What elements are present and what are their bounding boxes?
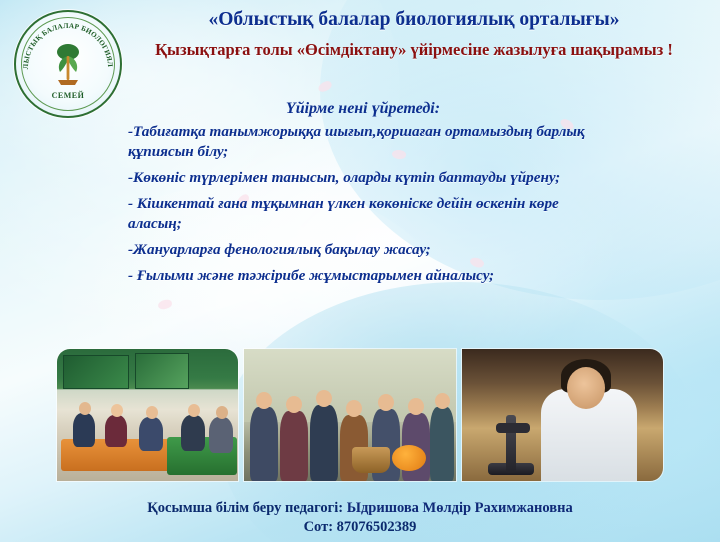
photo-classroom-figure-head [216,406,228,419]
body-lead: Үйірме нені үйретеді: [128,100,598,118]
photo-classroom-figure [73,413,95,447]
footer-phone-line: Сот: 87076502389 [0,519,720,536]
poster-title: «Облыстық балалар биологиялық орталығы» [118,8,710,32]
list-item: - Кішкентай ғана тұқымнан үлкен көкөніск… [128,194,598,234]
photo-student-microscope [461,348,664,482]
footer-role-label: Қосымша білім беру педагогі: [147,500,343,516]
photo-group-child [280,411,308,481]
footer-block: Қосымша білім беру педагогі: Ыдришова Мө… [0,500,720,536]
list-item: - Ғылыми және тәжірибе жұмыстарымен айна… [128,266,598,286]
title-block: «Облыстық балалар биологиялық орталығы» … [118,8,710,62]
list-item: -Көкөніс түрлерімен танысып, оларды күті… [128,168,598,188]
photo-classroom-board [63,355,129,389]
list-item: -Табиғатқа танымжорыққа шығып,қоршаған о… [128,122,598,162]
logo-bottom-text: СЕМЕЙ [16,91,120,100]
photo-classroom-figure-head [146,406,158,419]
photo-group-child [310,405,338,481]
footer-teacher-name: Ыдришова Мөлдір Рахимжановна [347,500,573,516]
footer-teacher-line: Қосымша білім беру педагогі: Ыдришова Мө… [0,500,720,517]
photo-microscope-arm [496,423,530,433]
plant-sprout-icon [48,42,88,86]
footer-phone-number: 87076502389 [337,519,417,535]
organization-logo: ОБЛЫСТЫҚ БАЛАЛАР БИОЛОГИЯЛЫҚ СЕМЕЙ [14,10,122,118]
photo-classroom-figure-head [111,404,123,417]
poster-subtitle: Қызықтарға толы «Өсімдіктану» үйірмесіне… [118,38,710,62]
poster-canvas: ОБЛЫСТЫҚ БАЛАЛАР БИОЛОГИЯЛЫҚ СЕМЕЙ «Облы… [0,0,720,542]
petal-decoration [157,299,172,310]
photo-classroom-figure [139,417,163,451]
petal-decoration [317,80,333,94]
photo-classroom-session [56,348,239,482]
photo-group-basket [352,447,390,473]
photo-group-child [430,407,454,481]
body-block: Үйірме нені үйретеді: -Табиғатқа танымжо… [128,100,598,292]
list-item: -Жануарларға фенологиялық бақылау жасау; [128,240,598,260]
photo-group-child [250,407,278,481]
photo-classroom-figure-head [188,404,200,417]
photo-classroom-figure [181,415,205,451]
photo-classroom-figure-head [79,402,91,415]
photo-classroom-board-secondary [135,353,189,389]
photo-student-head [567,367,605,409]
photo-classroom-figure [209,417,233,453]
photo-children-group-harvest [243,348,456,482]
photo-classroom-figure [105,415,127,447]
photo-strip [56,348,664,480]
footer-phone-label: Сот: [304,519,333,535]
